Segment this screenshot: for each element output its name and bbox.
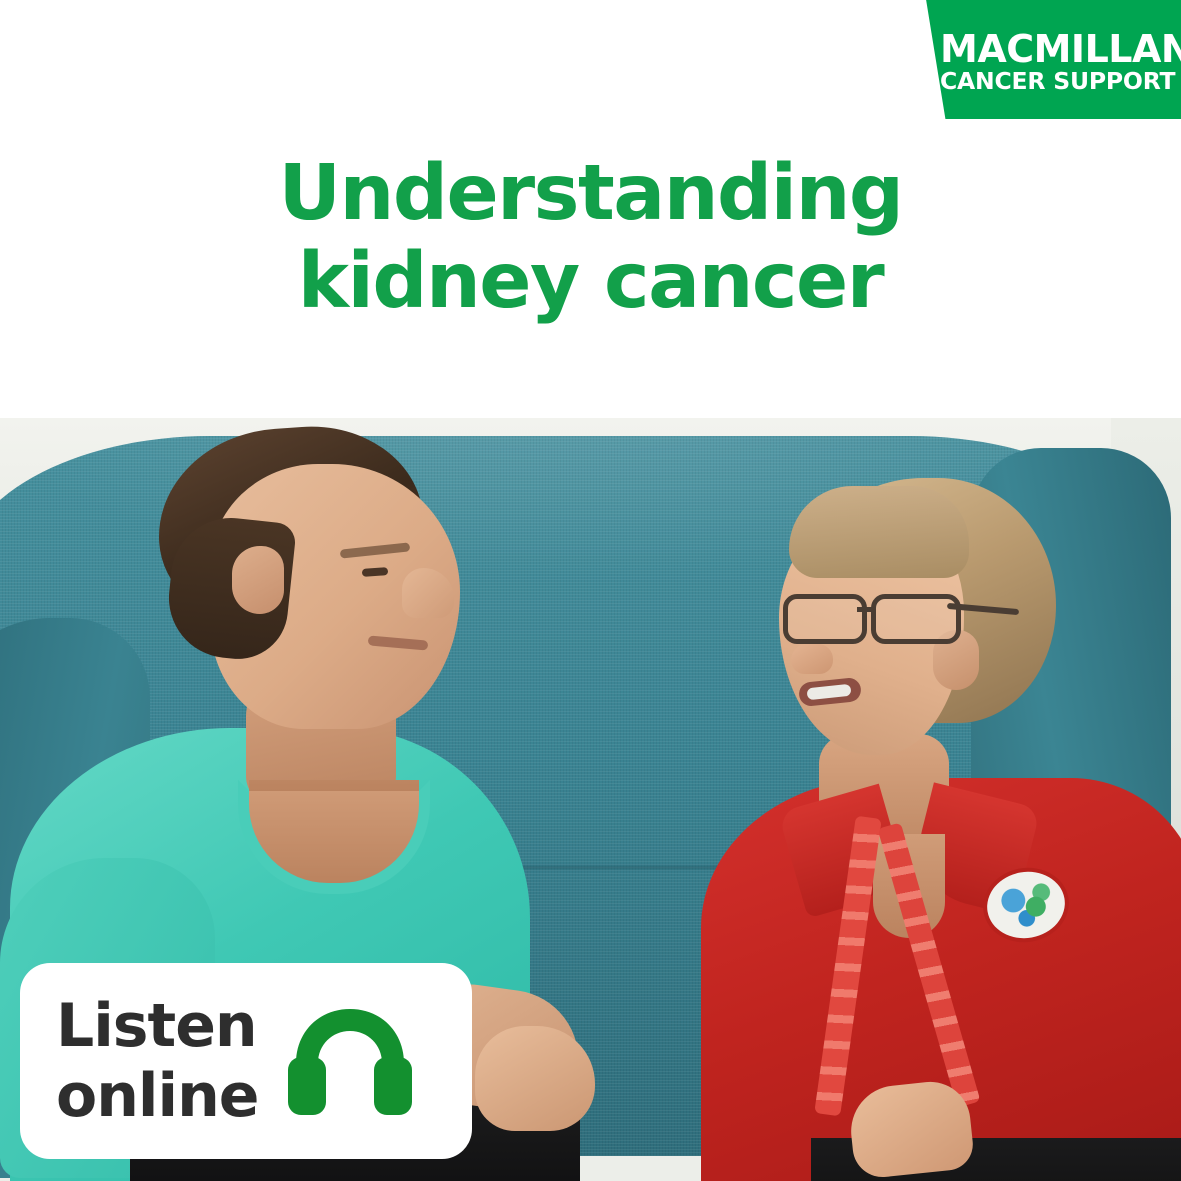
page-title-line-1: Understanding [0, 150, 1181, 238]
listen-online-badge[interactable]: Listen online [20, 963, 472, 1159]
man-hand [475, 1026, 595, 1131]
publication-cover: MACMILLAN CANCER SUPPORT Understanding k… [0, 0, 1181, 1181]
glasses-lens-right [871, 594, 961, 644]
logo-line-macmillan: MACMILLAN [940, 30, 1176, 68]
page-title: Understanding kidney cancer [0, 150, 1181, 326]
page-title-line-2: kidney cancer [0, 238, 1181, 326]
woman-glasses [783, 594, 961, 638]
woman-hair-fringe [789, 486, 969, 578]
listen-online-label: Listen online [56, 991, 258, 1131]
man-ear [232, 546, 284, 614]
listen-online-line-1: Listen [56, 991, 258, 1061]
logo-line-cancer-support: CANCER SUPPORT [940, 68, 1176, 94]
logo-text: MACMILLAN CANCER SUPPORT [940, 30, 1176, 94]
person-woman-volunteer [761, 448, 1181, 1181]
woman-nose [791, 644, 833, 674]
glasses-lens-left [783, 594, 867, 644]
glasses-bridge [857, 607, 875, 612]
title-area: Understanding kidney cancer [0, 150, 1181, 326]
listen-online-line-2: online [56, 1061, 258, 1131]
headphones-icon [280, 1001, 420, 1121]
macmillan-logo: MACMILLAN CANCER SUPPORT [893, 0, 1181, 119]
